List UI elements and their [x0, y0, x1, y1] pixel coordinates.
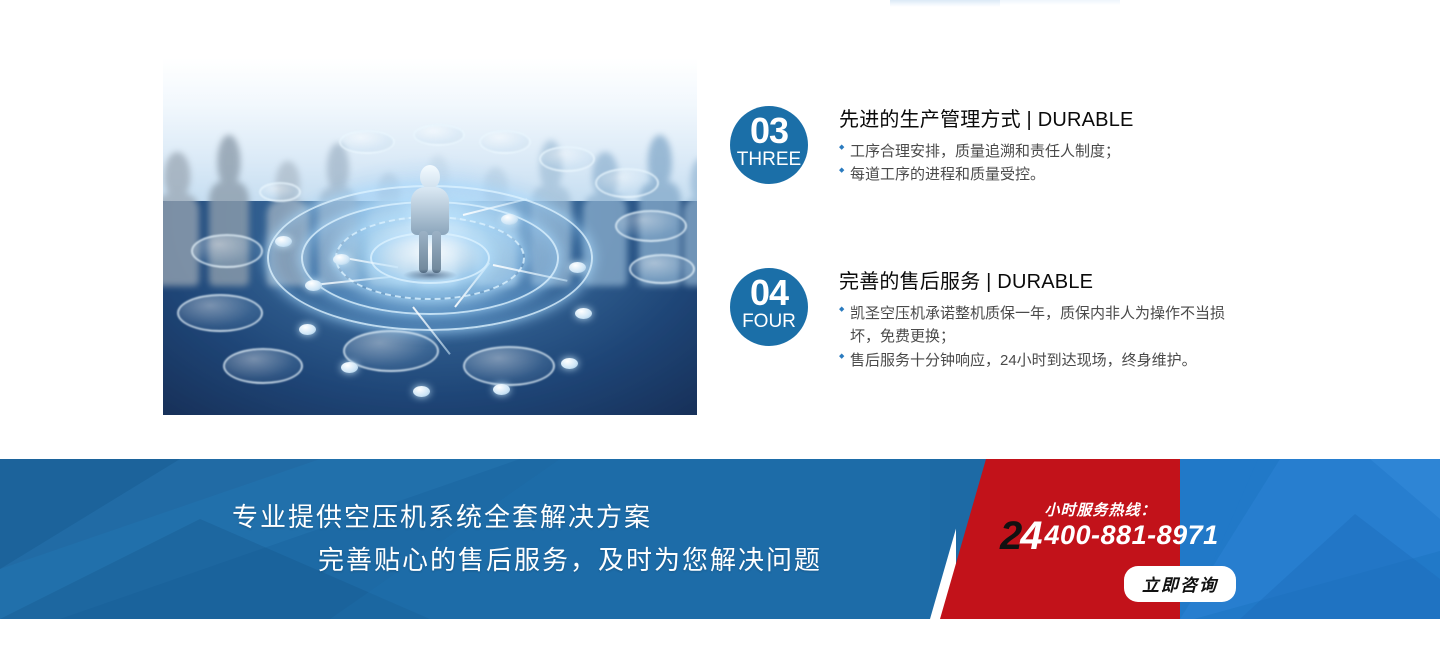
hotline-phone-number[interactable]: 400-881-8971: [1045, 521, 1219, 551]
photo-link-node: [501, 214, 518, 225]
feature-text-four: 完善的售后服务 | DURABLE 凯圣空压机承诺整机质保一年，质保内非人为操作…: [839, 268, 1239, 372]
badge-word: THREE: [730, 150, 808, 169]
feature-bullet-list: 工序合理安排，质量追溯和责任人制度； 每道工序的进程和质量受控。: [839, 140, 1134, 187]
feature-bullet: 工序合理安排，质量追溯和责任人制度；: [839, 140, 1134, 163]
feature-bullet-list: 凯圣空压机承诺整机质保一年，质保内非人为操作不当损坏，免费更换； 售后服务十分钟…: [839, 302, 1239, 372]
photo-central-figure: [410, 165, 450, 270]
top-cutoff-remnant: [890, 0, 1000, 7]
feature-bullet: 售后服务十分钟响应，24小时到达现场，终身维护。: [839, 349, 1239, 372]
feature-heading: 先进的生产管理方式 | DURABLE: [839, 108, 1134, 133]
hotline-label: 小时服务热线：: [1045, 503, 1219, 518]
network-concept-photo: [163, 58, 697, 415]
feature-badge-three: 03 THREE: [730, 106, 808, 184]
photo-link-node: [493, 384, 510, 395]
badge-word: FOUR: [730, 312, 808, 331]
photo-link-node: [413, 386, 430, 397]
photo-link-node: [299, 324, 316, 335]
photo-link-node: [341, 362, 358, 373]
photo-node-cylinder: [479, 130, 531, 154]
hotline-digit-4: 4: [1020, 514, 1040, 558]
photo-node-cylinder: [259, 182, 301, 202]
feature-badge-four: 04 FOUR: [730, 268, 808, 346]
feature-bullet: 凯圣空压机承诺整机质保一年，质保内非人为操作不当损坏，免费更换；: [839, 302, 1239, 349]
photo-node-cylinder: [463, 346, 555, 386]
photo-node-cylinder: [223, 348, 303, 384]
consult-now-button[interactable]: 立即咨询: [1124, 566, 1236, 602]
badge-number: 03: [730, 113, 808, 149]
photo-node-cylinder: [339, 130, 395, 154]
photo-node-cylinder: [615, 210, 687, 242]
banner-slogan-line-1: 专业提供空压机系统全套解决方案: [232, 498, 930, 537]
feature-text-three: 先进的生产管理方式 | DURABLE 工序合理安排，质量追溯和责任人制度； 每…: [839, 106, 1134, 187]
photo-node-cylinder: [595, 168, 659, 198]
hotline-digit-2: 2: [1000, 514, 1020, 558]
photo-link-node: [305, 280, 322, 291]
badge-number: 04: [730, 275, 808, 311]
photo-node-cylinder: [629, 254, 695, 284]
photo-link-node: [275, 236, 292, 247]
photo-link-node: [333, 254, 350, 265]
top-cutoff-remnant-secondary: [1000, 0, 1120, 5]
page-root: 03 THREE 先进的生产管理方式 | DURABLE 工序合理安排，质量追溯…: [0, 0, 1440, 663]
feature-block-four: 04 FOUR 完善的售后服务 | DURABLE 凯圣空压机承诺整机质保一年，…: [730, 268, 1239, 372]
feature-bullet: 每道工序的进程和质量受控。: [839, 163, 1134, 186]
hotline-24-logo: 24: [1000, 517, 1041, 555]
photo-link-node: [569, 262, 586, 273]
photo-link-node: [561, 358, 578, 369]
photo-node-cylinder: [413, 124, 465, 146]
photo-node-cylinder: [539, 146, 595, 172]
banner-slogan-line-2: 完善贴心的售后服务，及时为您解决问题: [318, 541, 930, 580]
photo-node-cylinder: [177, 294, 263, 332]
photo-link-node: [575, 308, 592, 319]
photo-node-cylinder: [191, 234, 263, 268]
feature-heading: 完善的售后服务 | DURABLE: [839, 270, 1239, 295]
feature-block-three: 03 THREE 先进的生产管理方式 | DURABLE 工序合理安排，质量追溯…: [730, 106, 1134, 187]
banner-slogans: 专业提供空压机系统全套解决方案 完善贴心的售后服务，及时为您解决问题: [0, 459, 930, 619]
